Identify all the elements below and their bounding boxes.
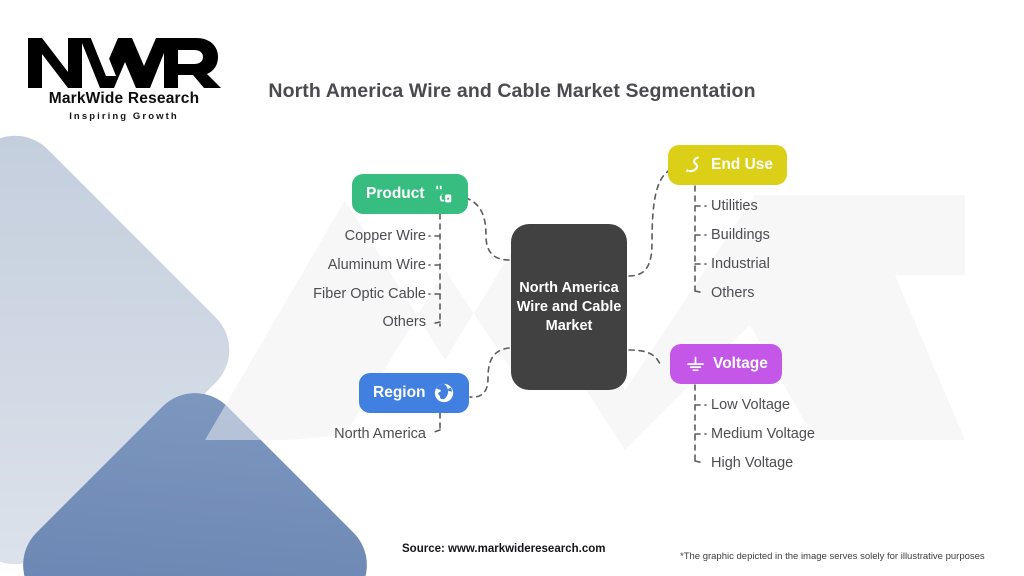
link-center-region	[470, 348, 509, 397]
leaf-end-use-1: Buildings	[711, 227, 770, 243]
link-center-product	[466, 198, 509, 260]
link-center-enduse	[629, 170, 670, 276]
leaf-end-use-2: Industrial	[711, 256, 770, 272]
leaf-end-use-3: Others	[711, 285, 755, 301]
globe-icon	[433, 382, 455, 404]
leaf-voltage-2: High Voltage	[711, 455, 793, 471]
leaves-product	[429, 236, 440, 324]
leaf-region-0: North America	[334, 426, 426, 442]
leaf-product-2: Fiber Optic Cable	[313, 286, 426, 302]
leaf-voltage-0: Low Voltage	[711, 397, 790, 413]
branch-pill-product[interactable]: Product	[352, 174, 468, 214]
power-cord-icon	[682, 154, 704, 176]
branch-pill-region[interactable]: Region	[359, 373, 469, 413]
branch-label-end-use: End Use	[711, 156, 773, 174]
leaf-product-1: Aluminum Wire	[328, 257, 426, 273]
branch-label-region: Region	[373, 384, 426, 402]
ground-symbol-icon	[684, 353, 706, 375]
leaf-product-0: Copper Wire	[345, 228, 426, 244]
link-center-voltage	[629, 350, 660, 364]
branch-pill-end-use[interactable]: End Use	[668, 145, 787, 185]
center-node: North America Wire and Cable Market	[511, 224, 627, 390]
leaves-voltage	[695, 405, 706, 463]
source-credit: Source: www.markwideresearch.com	[402, 543, 605, 555]
branch-label-voltage: Voltage	[713, 355, 768, 373]
infographic-canvas: MarkWide Research Inspiring Growth North…	[0, 0, 1024, 576]
leaf-end-use-0: Utilities	[711, 198, 758, 214]
cable-plug-icon	[432, 183, 454, 205]
leaves-region	[431, 430, 440, 433]
branch-label-product: Product	[366, 185, 425, 203]
leaf-voltage-1: Medium Voltage	[711, 426, 815, 442]
leaf-product-3: Others	[382, 314, 426, 330]
branch-pill-voltage[interactable]: Voltage	[670, 344, 782, 384]
disclaimer-note: *The graphic depicted in the image serve…	[680, 551, 985, 562]
leaves-enduse	[695, 206, 706, 293]
center-node-label: North America Wire and Cable Market	[511, 279, 627, 336]
